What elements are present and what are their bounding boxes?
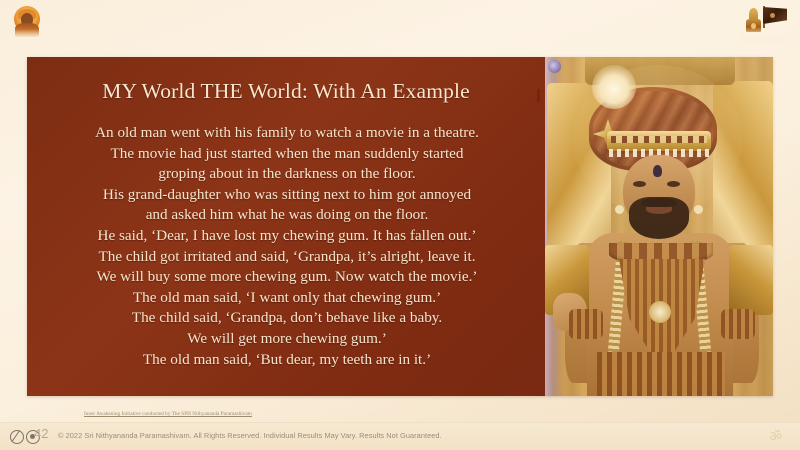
body-line: An old man went with his family to watch… bbox=[37, 123, 537, 144]
body-line: and asked him what he was doing on the f… bbox=[37, 205, 537, 226]
tilak-mark bbox=[653, 165, 662, 177]
left-eye bbox=[633, 181, 646, 187]
crown-gems bbox=[611, 136, 707, 143]
body-line: The child got irritated and said, ‘Grand… bbox=[37, 247, 537, 268]
presentation-slide: MY World THE World: With An Example An o… bbox=[0, 0, 800, 450]
creative-commons-icon bbox=[10, 430, 24, 444]
cc-slash-shape bbox=[12, 431, 20, 442]
mustache bbox=[641, 198, 677, 207]
top-right-emblem-group bbox=[741, 5, 787, 37]
body-line: We will get more chewing gum.’ bbox=[37, 329, 537, 350]
left-earring bbox=[615, 205, 624, 214]
deity-glow-shape bbox=[751, 23, 756, 29]
pendant-jewel bbox=[649, 301, 671, 323]
beaded-waistband bbox=[597, 352, 725, 396]
copyright-notice: © 2022 Sri Nithyananda Paramashivam. All… bbox=[58, 431, 442, 440]
text-cursor-marker bbox=[537, 89, 540, 102]
right-earring bbox=[694, 205, 703, 214]
flag-emblem-icon bbox=[763, 7, 787, 24]
slide-content-panel: MY World THE World: With An Example An o… bbox=[27, 57, 773, 396]
guru-photograph bbox=[545, 57, 773, 396]
body-line: He said, ‘Dear, I have lost my chewing g… bbox=[37, 226, 537, 247]
om-watermark-icon: ॐ bbox=[756, 425, 786, 447]
right-armband bbox=[721, 309, 755, 339]
body-line: groping about in the darkness on the flo… bbox=[37, 164, 537, 185]
guru-portrait-icon bbox=[10, 4, 44, 42]
slide-text-area: MY World THE World: With An Example An o… bbox=[27, 57, 545, 396]
turban-plume bbox=[592, 65, 636, 109]
body-line: His grand-daughter who was sitting next … bbox=[37, 185, 537, 206]
emblem-fade-overlay bbox=[741, 31, 787, 43]
photo-corner-badge bbox=[548, 60, 561, 73]
slide-body-text: An old man went with his family to watch… bbox=[37, 123, 537, 370]
page-title: MY World THE World: With An Example bbox=[27, 79, 545, 104]
right-eye bbox=[667, 181, 680, 187]
image-fade-overlay bbox=[10, 29, 44, 42]
body-line: The old man said, ‘I want only that chew… bbox=[37, 288, 537, 309]
slide-footer: 42 © 2022 Sri Nithyananda Paramashivam. … bbox=[0, 422, 800, 450]
body-line: The old man said, ‘But dear, my teeth ar… bbox=[37, 350, 537, 371]
flag-emblem-dot bbox=[770, 13, 775, 18]
credit-line: Inner Awakening Initiative conducted by … bbox=[84, 411, 252, 417]
left-armband bbox=[569, 309, 603, 339]
body-line: We will buy some more chewing gum. Now w… bbox=[37, 267, 537, 288]
om-glyph: ॐ bbox=[769, 427, 782, 446]
throne-armrest-right bbox=[729, 245, 773, 315]
page-number: 42 bbox=[34, 426, 48, 441]
body-line: The child said, ‘Grandpa, don’t behave l… bbox=[37, 308, 537, 329]
body-line: The movie had just started when the man … bbox=[37, 144, 537, 165]
